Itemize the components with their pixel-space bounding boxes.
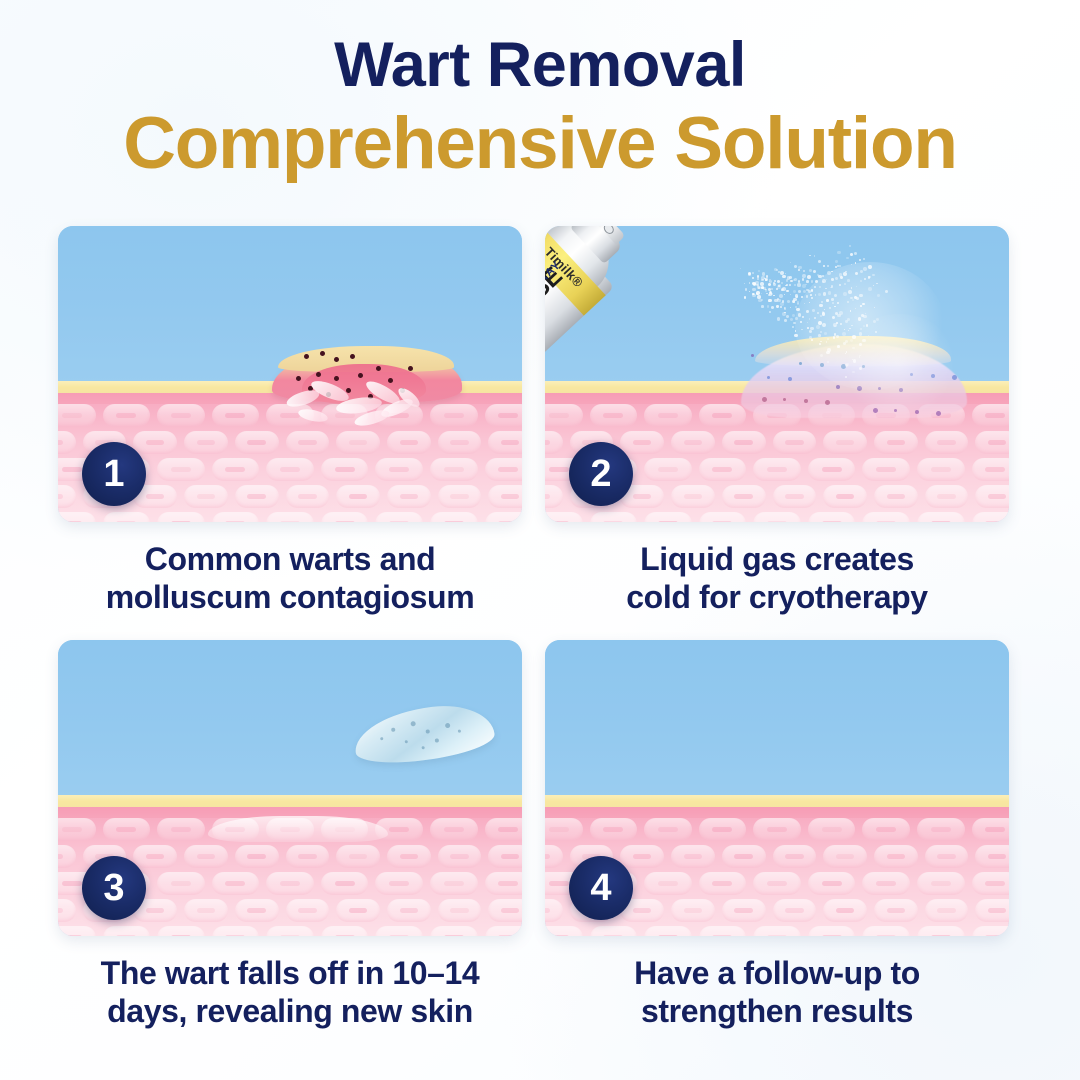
skin-cell-row (545, 926, 1009, 936)
skin-cell (235, 899, 279, 922)
step-card-2: Timilk® CHILLERASE BUMP RENEWAL SPRAY PR… (545, 226, 1009, 617)
skin-cell (321, 458, 369, 481)
skin-cell (620, 845, 664, 868)
skin-cell (972, 926, 1010, 936)
skin-cell (862, 926, 910, 936)
skin-cell (644, 512, 692, 522)
skin-cell (862, 458, 910, 481)
skin-cell (699, 458, 747, 481)
steps-grid: 1 Common warts and molluscum contagiosum (58, 226, 1022, 1026)
skin-cell (917, 458, 965, 481)
skin-cell (590, 926, 638, 936)
skin-cell (286, 845, 330, 868)
skin-cell (430, 512, 478, 522)
skin-cell (545, 485, 563, 508)
skin-cell (545, 845, 563, 868)
caption-line-1: Liquid gas creates (545, 540, 1009, 578)
skin-cell (925, 899, 969, 922)
step-number-badge: 4 (569, 856, 633, 920)
skin-cell (925, 845, 969, 868)
skin-cell (862, 872, 910, 895)
skin-cell (753, 458, 801, 481)
skin-cell (722, 485, 766, 508)
scab-fleck (410, 721, 416, 727)
skin-cell (808, 458, 856, 481)
skin-cell (184, 431, 228, 454)
skin-cell (925, 431, 969, 454)
caption-line-1: Have a follow-up to (545, 954, 1009, 992)
caption-line-1: The wart falls off in 10–14 (58, 954, 522, 992)
skin-cell (874, 485, 918, 508)
scab-fleck (391, 727, 395, 731)
skin-cell-row (58, 512, 522, 522)
skin-cell (975, 845, 1009, 868)
skin-cell (671, 899, 715, 922)
step-card-1: 1 Common warts and molluscum contagiosum (58, 226, 522, 617)
skin-cell (235, 431, 279, 454)
spray-can-body-group: Timilk® CHILLERASE BUMP RENEWAL SPRAY PR… (545, 226, 639, 426)
skin-cell (753, 818, 801, 841)
skin-cell (917, 512, 965, 522)
skin-cell (722, 845, 766, 868)
skin-cell (58, 845, 76, 868)
frost-speck (936, 411, 941, 416)
skin-cell (862, 512, 910, 522)
skin-cell (184, 845, 228, 868)
skin-cell (438, 431, 482, 454)
skin-cell (671, 485, 715, 508)
skin-cell (671, 845, 715, 868)
skin-cell (58, 404, 96, 427)
skin-cell (286, 431, 330, 454)
capillary-dot (408, 366, 413, 371)
skin-cell (157, 872, 205, 895)
skin-cell (430, 926, 478, 936)
capillary-dot (296, 376, 301, 381)
skin-cell (485, 458, 523, 481)
skin-cell (975, 485, 1009, 508)
skin-cell (133, 845, 177, 868)
skin-cell (103, 404, 151, 427)
skin-cell (925, 485, 969, 508)
skin-cell (375, 512, 423, 522)
skin-cell (488, 845, 522, 868)
skin-cell (58, 899, 76, 922)
skin-cell (58, 485, 76, 508)
skin-cell (862, 818, 910, 841)
skin-cell (133, 431, 177, 454)
skin-cell (212, 926, 260, 936)
skin-cell (375, 458, 423, 481)
skin-cell (753, 872, 801, 895)
skin-cell (699, 512, 747, 522)
skin-cell (753, 512, 801, 522)
capillary-dot (334, 376, 339, 381)
step-3-caption: The wart falls off in 10–14 days, reveal… (58, 954, 522, 1031)
skin-cell (972, 818, 1010, 841)
capillary-dot (334, 357, 339, 362)
skin-cell (644, 458, 692, 481)
skin-cell-row (545, 818, 1009, 846)
skin-cell (387, 845, 431, 868)
skin-cell (266, 512, 314, 522)
skin-cell (430, 818, 478, 841)
skin-cell (808, 872, 856, 895)
scab-fleck (421, 746, 424, 749)
step-2-illustration: Timilk® CHILLERASE BUMP RENEWAL SPRAY PR… (545, 226, 1009, 522)
skin-cell (808, 818, 856, 841)
capillary-dot (316, 372, 321, 377)
skin-cell (722, 899, 766, 922)
skin-cell (975, 431, 1009, 454)
skin-cell (212, 458, 260, 481)
skin-cell (773, 899, 817, 922)
skin-cell (157, 404, 205, 427)
capillary-dot (358, 373, 363, 378)
skin-cell (266, 872, 314, 895)
skin-cell (430, 458, 478, 481)
skin-cell (874, 845, 918, 868)
infographic-poster: Wart Removal Comprehensive Solution 1 (0, 0, 1080, 1080)
skin-cell (266, 926, 314, 936)
skin-cell (753, 926, 801, 936)
skin-cell-row (545, 512, 1009, 522)
skin-cell (823, 899, 867, 922)
skin-cell (773, 845, 817, 868)
caption-line-1: Common warts and (58, 540, 522, 578)
skin-cell (644, 926, 692, 936)
step-number-badge: 3 (82, 856, 146, 920)
skin-cell (212, 872, 260, 895)
skin-cell (773, 485, 817, 508)
illustration-background (545, 640, 1009, 799)
skin-cell (157, 512, 205, 522)
skin-cell (212, 404, 260, 427)
capillary-dot (376, 366, 381, 371)
step-number-badge: 2 (569, 442, 633, 506)
new-skin-patch (208, 816, 388, 842)
skin-cell (823, 845, 867, 868)
step-1-caption: Common warts and molluscum contagiosum (58, 540, 522, 617)
skin-cell (917, 926, 965, 936)
skin-cell (808, 926, 856, 936)
skin-cell (212, 512, 260, 522)
skin-cell (286, 899, 330, 922)
scab-fleck (380, 737, 383, 740)
title-line-primary: Wart Removal (0, 34, 1080, 97)
skin-cell (438, 845, 482, 868)
skin-cell (874, 899, 918, 922)
skin-cell (103, 818, 151, 841)
skin-cell (545, 926, 583, 936)
step-3-illustration: 3 (58, 640, 522, 936)
skin-cell (336, 485, 380, 508)
skin-cell (157, 926, 205, 936)
scab-fleck (445, 723, 451, 729)
skin-cell (103, 926, 151, 936)
skin-cell (823, 485, 867, 508)
scab-fleck (425, 729, 429, 733)
skin-cell (58, 512, 96, 522)
skin-cell (430, 872, 478, 895)
title-line-secondary: Comprehensive Solution (0, 106, 1080, 183)
step-card-4: 4 Have a follow-up to strengthen results (545, 640, 1009, 1031)
skin-cell (235, 845, 279, 868)
skin-cell (336, 431, 380, 454)
skin-cell-row (58, 926, 522, 936)
skin-cell (184, 899, 228, 922)
skin-cell (485, 818, 523, 841)
scab-fleck (458, 729, 461, 732)
skin-cell (336, 899, 380, 922)
step-2-caption: Liquid gas creates cold for cryotherapy (545, 540, 1009, 617)
caption-line-2: cold for cryotherapy (545, 578, 1009, 616)
skin-cell (545, 818, 583, 841)
skin-cell (699, 926, 747, 936)
skin-cell (58, 926, 96, 936)
skin-cell (485, 926, 523, 936)
skin-cell (485, 512, 523, 522)
skin-cell (485, 404, 523, 427)
skin-cell (58, 818, 96, 841)
caption-line-2: strengthen results (545, 992, 1009, 1030)
skin-cell (235, 485, 279, 508)
skin-cell (972, 458, 1010, 481)
skin-cell (387, 431, 431, 454)
skin-cell (157, 818, 205, 841)
page-title: Wart Removal Comprehensive Solution (0, 34, 1080, 183)
skin-cell (874, 431, 918, 454)
scab-fleck (405, 740, 408, 743)
skin-cell (321, 926, 369, 936)
skin-cell (103, 512, 151, 522)
skin-cell (975, 899, 1009, 922)
step-number-badge: 1 (82, 442, 146, 506)
step-4-illustration: 4 (545, 640, 1009, 936)
caption-line-2: molluscum contagiosum (58, 578, 522, 616)
skin-cell (321, 512, 369, 522)
skin-cell (917, 818, 965, 841)
skin-cell (438, 485, 482, 508)
skin-cell (699, 872, 747, 895)
skin-cell (485, 872, 523, 895)
skin-cell (375, 872, 423, 895)
skin-cell (972, 404, 1010, 427)
spray-can: Timilk® CHILLERASE BUMP RENEWAL SPRAY PR… (545, 226, 861, 452)
skin-cell (488, 899, 522, 922)
skin-cell (590, 512, 638, 522)
skin-cell (387, 899, 431, 922)
skin-cell (336, 845, 380, 868)
skin-cell (917, 872, 965, 895)
skin-cell (545, 899, 563, 922)
skin-cell (590, 818, 638, 841)
step-4-caption: Have a follow-up to strengthen results (545, 954, 1009, 1031)
skin-cell (387, 485, 431, 508)
capillary-dot (388, 378, 393, 383)
skin-cell (972, 872, 1010, 895)
skin-cell (321, 872, 369, 895)
skin-cell (157, 458, 205, 481)
skin-cell (438, 899, 482, 922)
skin-cell (184, 485, 228, 508)
skin-cell (266, 458, 314, 481)
skin-cell (286, 485, 330, 508)
skin-cell (488, 485, 522, 508)
step-card-3: 3 The wart falls off in 10–14 days, reve… (58, 640, 522, 1031)
capillary-dot (350, 354, 355, 359)
skin-cell (488, 431, 522, 454)
skin-cell (808, 512, 856, 522)
skin-cell (644, 818, 692, 841)
skin-cell (58, 431, 76, 454)
caption-line-2: days, revealing new skin (58, 992, 522, 1030)
capillary-dot (320, 351, 325, 356)
skin-cell (545, 512, 583, 522)
skin-cell (972, 512, 1010, 522)
capillary-dot (304, 354, 309, 359)
step-1-illustration: 1 (58, 226, 522, 522)
skin-cell (375, 926, 423, 936)
skin-cell (644, 872, 692, 895)
skin-cell (699, 818, 747, 841)
scab-fleck (435, 738, 439, 742)
